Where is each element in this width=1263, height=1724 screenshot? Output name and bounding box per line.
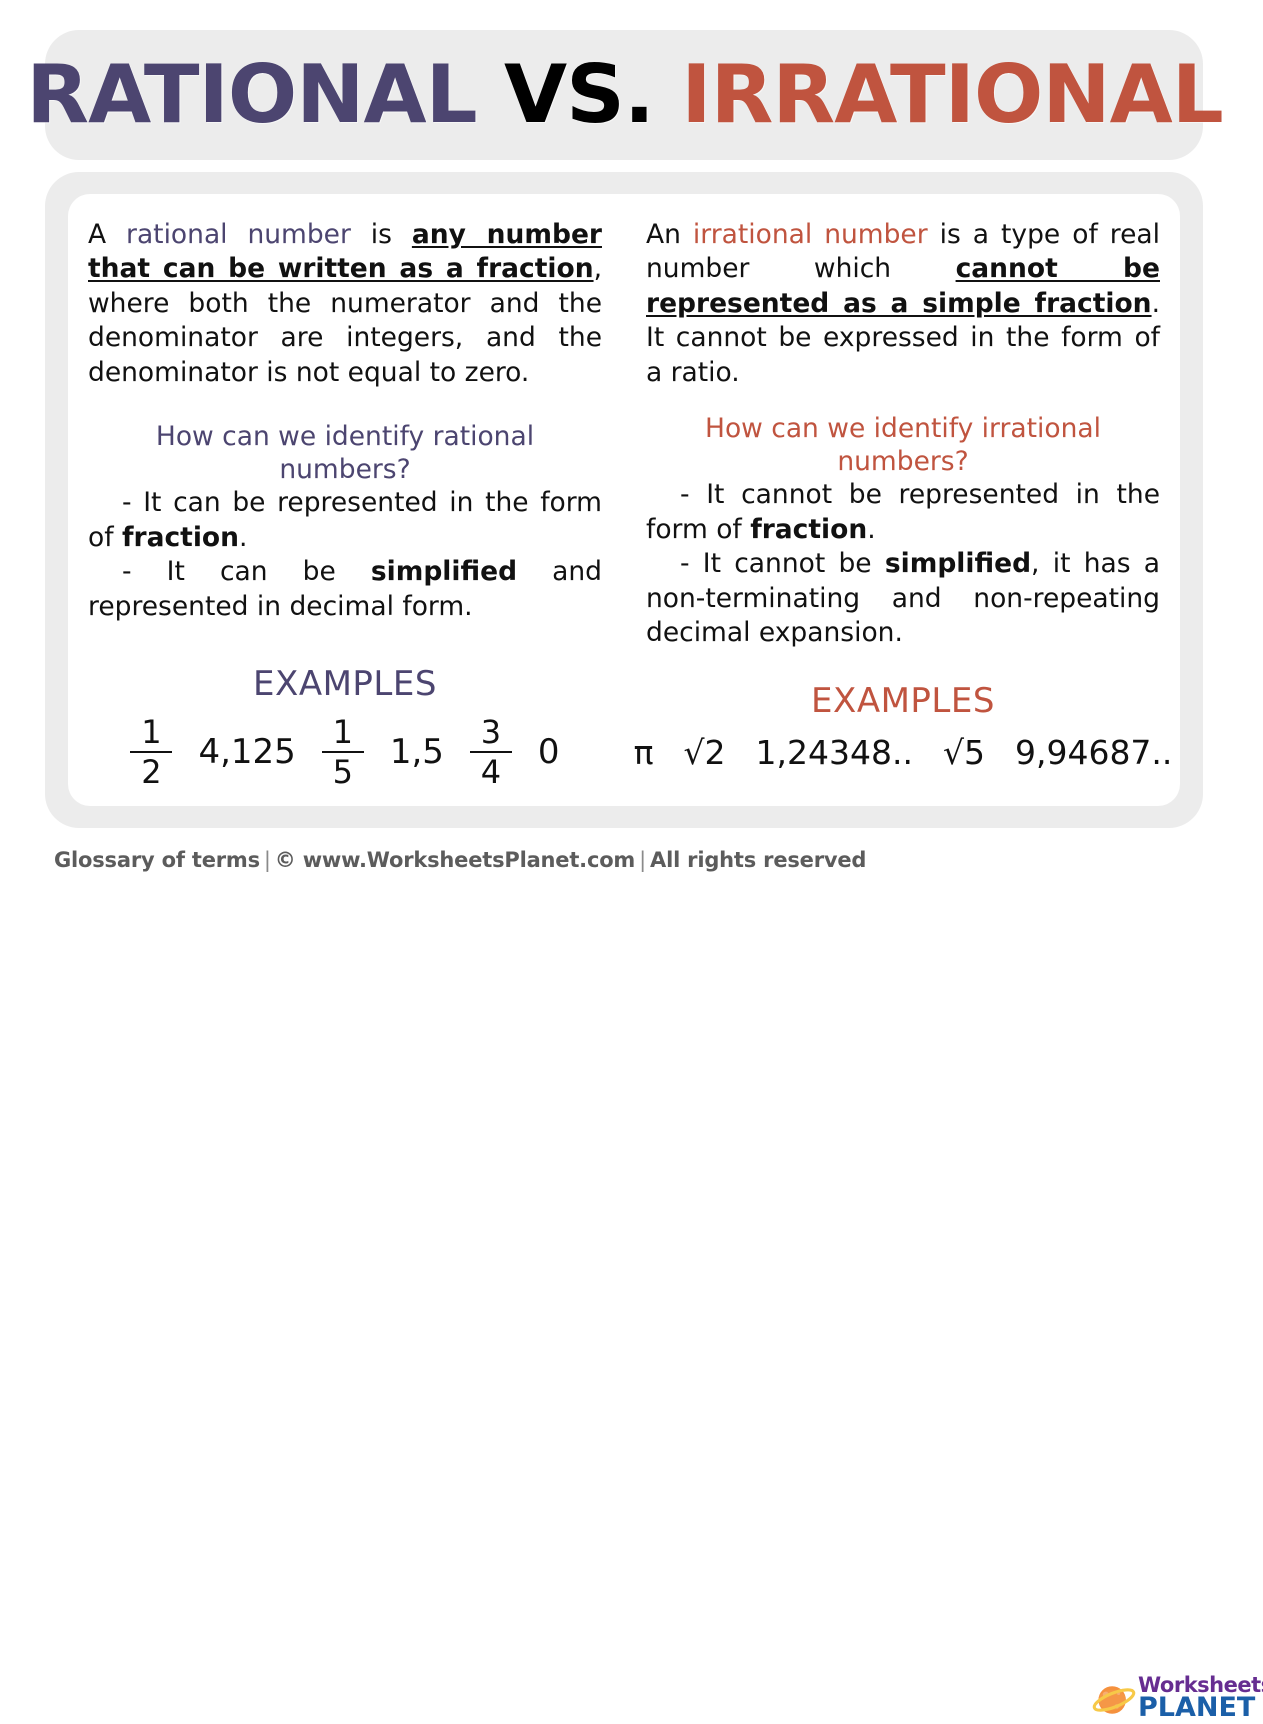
rational-keyword: rational number xyxy=(126,219,351,250)
spacer xyxy=(646,651,1160,681)
rational-definition: A rational number is any number that can… xyxy=(88,218,602,390)
example-fraction: 1 2 xyxy=(130,716,172,788)
irrational-examples-title: EXAMPLES xyxy=(646,681,1160,721)
title-word-vs: VS. xyxy=(503,48,653,141)
copyright-icon: © xyxy=(275,848,296,872)
irrational-examples-row: π √2 1,24348.. √5 9,94687.. xyxy=(646,733,1160,772)
spacer xyxy=(88,624,602,664)
example-value: √2 xyxy=(683,733,725,772)
footer-glossary-label: Glossary of terms xyxy=(54,848,260,872)
footer-credits: Glossary of terms|© www.WorksheetsPlanet… xyxy=(54,848,866,872)
footer: Glossary of terms|© www.WorksheetsPlanet… xyxy=(0,838,1263,893)
irrational-keyword: irrational number xyxy=(693,219,928,250)
content-panel: A rational number is any number that can… xyxy=(45,172,1203,828)
rational-question-heading: How can we identify rational numbers? xyxy=(88,420,602,486)
example-value: 1,5 xyxy=(390,732,444,772)
rational-def-part2: is xyxy=(351,219,412,250)
fraction-denominator: 4 xyxy=(472,753,510,788)
irrational-column: An irrational number is a type of real n… xyxy=(624,218,1160,806)
fraction-denominator: 2 xyxy=(132,753,170,788)
example-value: π xyxy=(634,733,654,772)
irrational-bullet-2: - It cannot be simplified, it has a non-… xyxy=(646,547,1160,650)
irrational-bullet-1-post: . xyxy=(867,514,875,545)
fraction-numerator: 3 xyxy=(472,716,510,751)
title-panel: RATIONAL VS. IRRATIONAL xyxy=(45,30,1203,160)
logo-wordmark: Worksheets PLANET xyxy=(1138,1675,1263,1721)
footer-separator: | xyxy=(260,848,275,872)
rational-bullet-2-pre: - It can be xyxy=(122,556,371,587)
example-value: 1,24348.. xyxy=(755,733,912,772)
irrational-question-heading: How can we identify irrational numbers? xyxy=(646,412,1160,478)
logo-text-worksheets: Worksheets xyxy=(1138,1675,1263,1696)
irrational-bullet-1: - It cannot be represented in the form o… xyxy=(646,478,1160,547)
title-word-irrational: IRRATIONAL xyxy=(681,48,1222,141)
rational-bullet-1: - It can be represented in the form of f… xyxy=(88,486,602,555)
fraction-denominator: 5 xyxy=(324,753,362,788)
rational-bullet-1-post: . xyxy=(239,522,247,553)
footer-website-link[interactable]: www.WorksheetsPlanet.com xyxy=(303,848,635,872)
footer-rights-label: All rights reserved xyxy=(650,848,866,872)
rational-bullet-2: - It can be simplified and represented i… xyxy=(88,555,602,624)
content-card: A rational number is any number that can… xyxy=(68,194,1180,806)
example-value: √5 xyxy=(943,733,985,772)
example-fraction: 1 5 xyxy=(322,716,364,788)
spacer xyxy=(646,390,1160,412)
example-fraction: 3 4 xyxy=(470,716,512,788)
irrational-definition: An irrational number is a type of real n… xyxy=(646,218,1160,390)
planet-icon xyxy=(1092,1678,1136,1722)
title-word-rational: RATIONAL xyxy=(26,48,476,141)
page-title: RATIONAL VS. IRRATIONAL xyxy=(26,55,1222,135)
fraction-numerator: 1 xyxy=(324,716,362,751)
footer-separator: | xyxy=(635,848,650,872)
irrational-bullet-2-bold: simplified xyxy=(885,548,1031,579)
rational-column: A rational number is any number that can… xyxy=(88,218,624,806)
irrational-bullet-1-pre: - It cannot be represented in the form o… xyxy=(646,479,1160,544)
irrational-bullet-2-pre: - It cannot be xyxy=(680,548,885,579)
two-column-layout: A rational number is any number that can… xyxy=(68,194,1180,806)
rational-def-part1: A xyxy=(88,219,126,250)
example-value: 4,125 xyxy=(198,732,295,772)
logo-text-planet: PLANET xyxy=(1138,1694,1263,1721)
spacer xyxy=(88,390,602,420)
irrational-bullet-1-bold: fraction xyxy=(750,514,867,545)
rational-examples-title: EXAMPLES xyxy=(88,664,602,704)
rational-examples-row: 1 2 4,125 1 5 1,5 3 4 xyxy=(88,716,602,788)
worksheets-planet-logo[interactable]: Worksheets PLANET xyxy=(1092,1672,1252,1724)
rational-bullet-1-bold: fraction xyxy=(122,522,239,553)
fraction-numerator: 1 xyxy=(132,716,170,751)
rational-bullet-2-bold: simplified xyxy=(371,556,517,587)
example-value: 9,94687.. xyxy=(1015,733,1172,772)
example-value: 0 xyxy=(538,732,560,772)
irrational-def-part1: An xyxy=(646,219,693,250)
